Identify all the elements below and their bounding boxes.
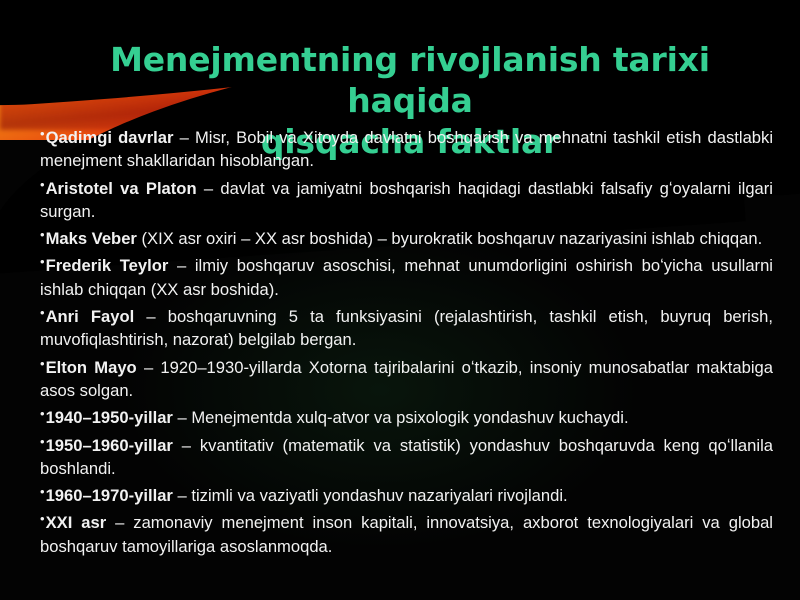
presentation-slide: Menejmentning rivojlanish tarixi haqida … [0, 0, 800, 600]
bullet-lead-term: Maks Veber [46, 229, 137, 248]
bullet-item: •Elton Mayo – 1920–1930-yillarda Xotorna… [40, 352, 773, 403]
bullet-dot-icon: • [40, 434, 45, 449]
bullet-item: •XXI asr – zamonaviy menejment inson kap… [40, 507, 773, 558]
bullet-lead-term: Frederik Teylor [46, 256, 169, 275]
bullet-description: (XIX asr oxiri – XX asr boshida) – byuro… [137, 229, 762, 248]
bullet-item: •1950–1960-yillar – kvantitativ (matemat… [40, 430, 773, 481]
bullet-dot-icon: • [40, 305, 45, 320]
bullet-description: – Menejmentda xulq-atvor va psixologik y… [173, 408, 629, 427]
bullet-description: – boshqaruvning 5 ta funksiyasini (rejal… [40, 307, 773, 349]
bullet-item: •Aristotel va Platon – davlat va jamiyat… [40, 173, 773, 224]
bullet-item: •Anri Fayol – boshqaruvning 5 ta funksiy… [40, 301, 773, 352]
bullet-item: •1960–1970-yillar – tizimli va vaziyatli… [40, 480, 773, 507]
bullet-item: •Qadimgi davrlar – Misr, Bobil va Xitoyd… [40, 122, 773, 173]
bullet-lead-term: Qadimgi davrlar [46, 128, 174, 147]
bullet-dot-icon: • [40, 254, 45, 269]
bullet-description: – 1920–1930-yillarda Xotorna tajribalari… [40, 358, 773, 400]
bullet-description: – tizimli va vaziyatli yondashuv nazariy… [173, 486, 568, 505]
bullet-dot-icon: • [40, 177, 45, 192]
bullet-lead-term: 1940–1950-yillar [46, 408, 173, 427]
bullet-dot-icon: • [40, 511, 45, 526]
bullet-item: •Frederik Teylor – ilmiy boshqaruv asosc… [40, 250, 773, 301]
bullet-dot-icon: • [40, 227, 45, 242]
slide-title-line-1: Menejmentning rivojlanish tarixi haqida [60, 40, 760, 122]
bullet-dot-icon: • [40, 406, 45, 421]
bullet-lead-term: 1950–1960-yillar [46, 436, 173, 455]
bullet-lead-term: XXI asr [46, 513, 107, 532]
bullet-item: •Maks Veber (XIX asr oxiri – XX asr bosh… [40, 223, 773, 250]
bullet-lead-term: 1960–1970-yillar [46, 486, 173, 505]
bullet-lead-term: Anri Fayol [46, 307, 135, 326]
bullet-lead-term: Aristotel va Platon [46, 179, 197, 198]
bullet-lead-term: Elton Mayo [46, 358, 137, 377]
bullet-dot-icon: • [40, 356, 45, 371]
slide-body: •Qadimgi davrlar – Misr, Bobil va Xitoyd… [40, 122, 773, 558]
bullet-dot-icon: • [40, 484, 45, 499]
bullet-description: – zamonaviy menejment inson kapitali, in… [40, 513, 773, 555]
bullet-dot-icon: • [40, 126, 45, 141]
bullet-item: •1940–1950-yillar – Menejmentda xulq-atv… [40, 402, 773, 429]
